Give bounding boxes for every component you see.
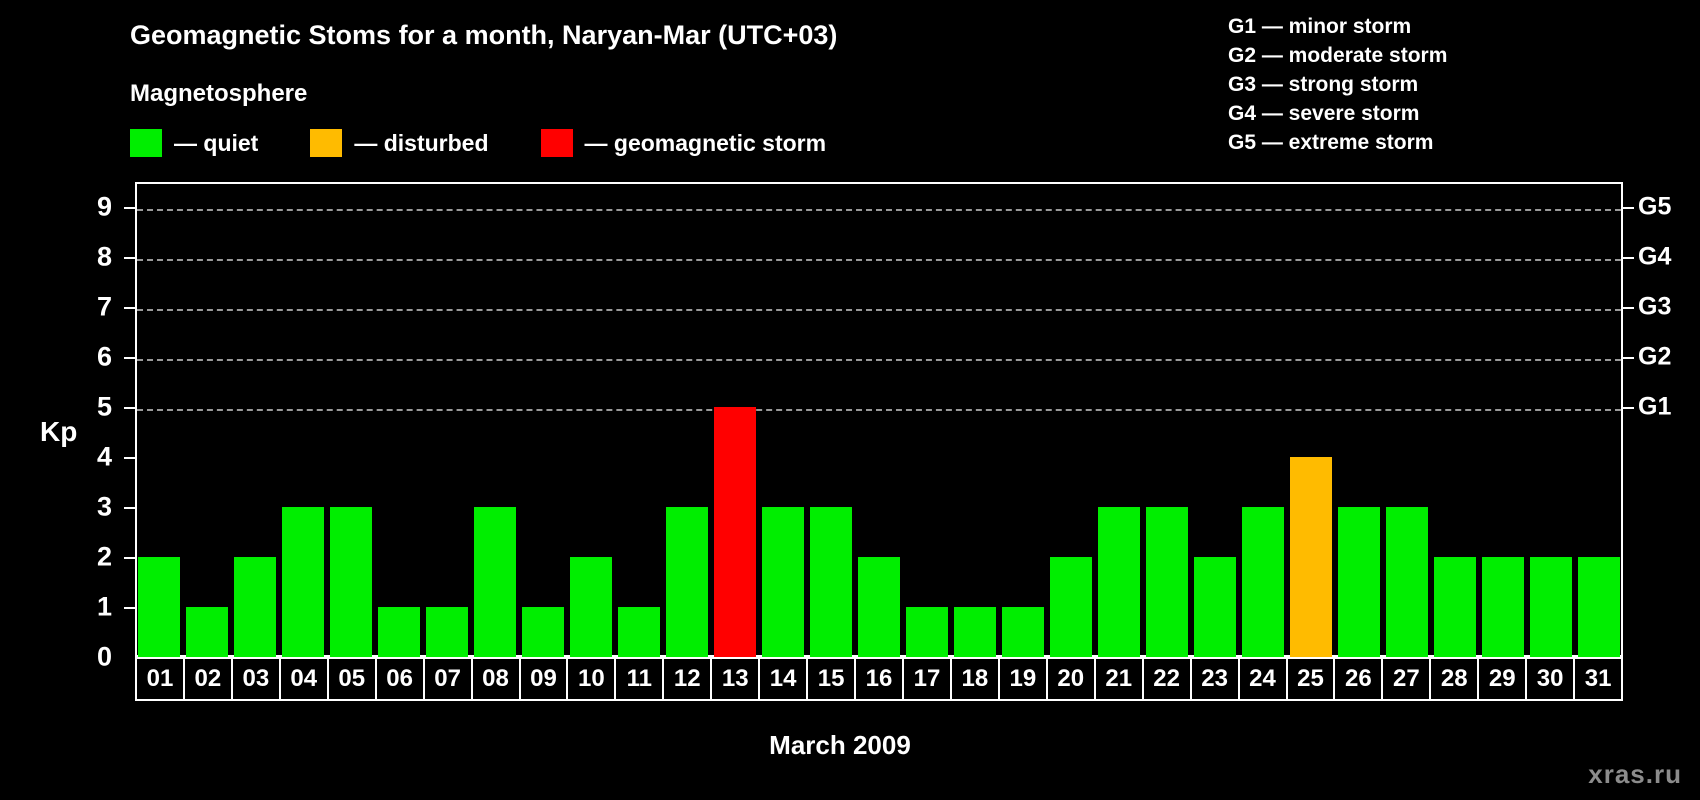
bar-slot-day-07	[423, 182, 471, 657]
g-tick-mark-g1	[1623, 407, 1634, 409]
y-tick-mark-1	[124, 607, 135, 609]
bar-day-24	[1242, 507, 1284, 657]
bar-day-28	[1434, 557, 1476, 657]
legend-item-disturbed: — disturbed	[310, 129, 488, 157]
bar-slot-day-13	[711, 182, 759, 657]
day-label-13: 13	[711, 657, 759, 701]
day-label-12: 12	[663, 657, 711, 701]
y-tick-label-9: 9	[72, 192, 112, 223]
day-label-31: 31	[1574, 657, 1623, 701]
bar-slot-day-22	[1143, 182, 1191, 657]
bar-slot-day-26	[1335, 182, 1383, 657]
gscale-row-g1: G1 — minor storm	[1228, 12, 1447, 41]
g-tick-mark-g2	[1623, 357, 1634, 359]
bar-day-08	[474, 507, 516, 657]
day-label-02: 02	[184, 657, 232, 701]
gscale-row-g5: G5 — extreme storm	[1228, 128, 1447, 157]
bar-slot-day-01	[135, 182, 183, 657]
magnetosphere-heading: Magnetosphere	[130, 80, 307, 108]
legend-swatch-disturbed	[310, 129, 342, 157]
day-label-29: 29	[1478, 657, 1526, 701]
bar-slot-day-20	[1047, 182, 1095, 657]
legend-swatch-quiet	[130, 129, 162, 157]
bar-day-01	[138, 557, 180, 657]
bar-day-30	[1530, 557, 1572, 657]
bar-day-07	[426, 607, 468, 657]
bar-slot-day-05	[327, 182, 375, 657]
bar-slot-day-08	[471, 182, 519, 657]
bar-day-18	[954, 607, 996, 657]
bar-day-04	[282, 507, 324, 657]
bar-slot-day-03	[231, 182, 279, 657]
day-label-22: 22	[1143, 657, 1191, 701]
y-tick-mark-6	[124, 357, 135, 359]
x-axis-title-text: March 2009	[769, 730, 911, 761]
g-tick-label-g4: G4	[1638, 243, 1671, 272]
bars-layer	[135, 182, 1623, 657]
gscale-row-g2: G2 — moderate storm	[1228, 41, 1447, 70]
day-label-03: 03	[232, 657, 280, 701]
g-tick-label-g2: G2	[1638, 343, 1671, 372]
g-tick-label-g5: G5	[1638, 193, 1671, 222]
day-label-23: 23	[1191, 657, 1239, 701]
y-tick-mark-4	[124, 457, 135, 459]
y-axis-title: Kp	[40, 416, 77, 448]
bar-day-14	[762, 507, 804, 657]
day-label-28: 28	[1430, 657, 1478, 701]
bar-day-03	[234, 557, 276, 657]
y-tick-mark-3	[124, 507, 135, 509]
watermark: xras.ru	[1588, 759, 1682, 790]
bar-day-10	[570, 557, 612, 657]
bar-day-21	[1098, 507, 1140, 657]
bar-slot-day-09	[519, 182, 567, 657]
bar-slot-day-27	[1383, 182, 1431, 657]
day-label-24: 24	[1239, 657, 1287, 701]
bar-slot-day-15	[807, 182, 855, 657]
x-axis-title: March 2009	[0, 730, 1700, 761]
y-tick-mark-7	[124, 307, 135, 309]
bar-slot-day-06	[375, 182, 423, 657]
bar-slot-day-31	[1575, 182, 1623, 657]
y-tick-label-7: 7	[72, 292, 112, 323]
bar-slot-day-10	[567, 182, 615, 657]
bar-day-05	[330, 507, 372, 657]
day-label-06: 06	[376, 657, 424, 701]
legend-item-quiet: — quiet	[130, 129, 258, 157]
bar-slot-day-04	[279, 182, 327, 657]
g-tick-label-g1: G1	[1638, 393, 1671, 422]
day-label-26: 26	[1334, 657, 1382, 701]
day-label-11: 11	[615, 657, 663, 701]
bar-slot-day-29	[1479, 182, 1527, 657]
day-label-25: 25	[1287, 657, 1335, 701]
day-label-21: 21	[1095, 657, 1143, 701]
day-label-08: 08	[472, 657, 520, 701]
day-label-04: 04	[280, 657, 328, 701]
day-label-19: 19	[999, 657, 1047, 701]
day-label-05: 05	[328, 657, 376, 701]
day-label-10: 10	[567, 657, 615, 701]
bar-slot-day-24	[1239, 182, 1287, 657]
bar-slot-day-02	[183, 182, 231, 657]
bar-day-09	[522, 607, 564, 657]
day-label-27: 27	[1382, 657, 1430, 701]
y-tick-label-0: 0	[72, 642, 112, 673]
bar-slot-day-18	[951, 182, 999, 657]
bar-slot-day-12	[663, 182, 711, 657]
day-label-strip: 0102030405060708091011121314151617181920…	[135, 657, 1623, 701]
g-tick-label-g3: G3	[1638, 293, 1671, 322]
legend-label-quiet: — quiet	[174, 130, 258, 157]
bar-day-19	[1002, 607, 1044, 657]
bar-day-16	[858, 557, 900, 657]
legend-item-geomagnetic-storm: — geomagnetic storm	[541, 129, 827, 157]
bar-day-02	[186, 607, 228, 657]
day-label-01: 01	[135, 657, 184, 701]
y-tick-label-6: 6	[72, 342, 112, 373]
bar-day-27	[1386, 507, 1428, 657]
gscale-row-g4: G4 — severe storm	[1228, 99, 1447, 128]
y-tick-mark-5	[124, 407, 135, 409]
day-label-15: 15	[807, 657, 855, 701]
bar-day-20	[1050, 557, 1092, 657]
y-tick-label-1: 1	[72, 592, 112, 623]
bar-slot-day-16	[855, 182, 903, 657]
bar-slot-day-23	[1191, 182, 1239, 657]
day-label-07: 07	[424, 657, 472, 701]
magnetosphere-legend: — quiet — disturbed — geomagnetic storm	[130, 128, 826, 158]
g-tick-mark-g4	[1623, 257, 1634, 259]
y-tick-mark-8	[124, 257, 135, 259]
bar-slot-day-21	[1095, 182, 1143, 657]
day-label-18: 18	[951, 657, 999, 701]
day-label-16: 16	[855, 657, 903, 701]
legend-label-disturbed: — disturbed	[354, 130, 488, 157]
bar-day-26	[1338, 507, 1380, 657]
g-tick-mark-g5	[1623, 207, 1634, 209]
bar-day-06	[378, 607, 420, 657]
bar-slot-day-11	[615, 182, 663, 657]
bar-day-22	[1146, 507, 1188, 657]
y-tick-label-5: 5	[72, 392, 112, 423]
day-label-17: 17	[903, 657, 951, 701]
gscale-row-g3: G3 — strong storm	[1228, 70, 1447, 99]
bar-day-25	[1290, 457, 1332, 657]
y-tick-mark-2	[124, 557, 135, 559]
y-tick-mark-9	[124, 207, 135, 209]
bar-slot-day-25	[1287, 182, 1335, 657]
bar-slot-day-17	[903, 182, 951, 657]
bar-day-29	[1482, 557, 1524, 657]
page-title: Geomagnetic Stoms for a month, Naryan-Ma…	[130, 20, 837, 51]
bar-slot-day-14	[759, 182, 807, 657]
gscale-legend: G1 — minor storm G2 — moderate storm G3 …	[1228, 12, 1447, 157]
day-label-20: 20	[1047, 657, 1095, 701]
bar-day-15	[810, 507, 852, 657]
bar-day-31	[1578, 557, 1620, 657]
bar-day-17	[906, 607, 948, 657]
bar-day-11	[618, 607, 660, 657]
y-tick-label-8: 8	[72, 242, 112, 273]
bar-day-23	[1194, 557, 1236, 657]
g-tick-mark-g3	[1623, 307, 1634, 309]
legend-swatch-geomagnetic-storm	[541, 129, 573, 157]
day-label-09: 09	[520, 657, 568, 701]
day-label-30: 30	[1526, 657, 1574, 701]
y-tick-label-4: 4	[72, 442, 112, 473]
bar-slot-day-19	[999, 182, 1047, 657]
bar-day-12	[666, 507, 708, 657]
y-tick-label-3: 3	[72, 492, 112, 523]
legend-label-geomagnetic-storm: — geomagnetic storm	[585, 130, 827, 157]
day-label-14: 14	[759, 657, 807, 701]
bar-slot-day-28	[1431, 182, 1479, 657]
y-tick-label-2: 2	[72, 542, 112, 573]
bar-slot-day-30	[1527, 182, 1575, 657]
bar-day-13	[714, 407, 756, 657]
